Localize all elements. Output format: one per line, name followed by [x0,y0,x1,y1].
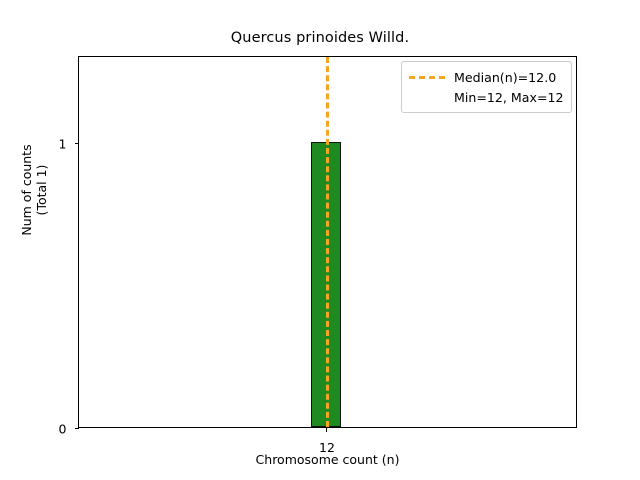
legend-dashed-line-icon [409,76,445,79]
page-title: Quercus prinoides Willd. [0,30,640,46]
y-axis-label: Num of counts (Total 1) [19,60,49,320]
ytick-label-0: 0 [59,422,67,437]
xtick-mark-12: 12 [326,427,327,432]
legend: Median(n)=12.0 Min=12, Max=12 [401,61,572,113]
plot-area: 0 1 12 Median(n)=12.0 Min=12, Max=12 [78,56,577,428]
ytick-mark-0: 0 [75,428,80,429]
legend-label-median: Median(n)=12.0 [454,70,556,85]
legend-entry-minmax: Min=12, Max=12 [409,87,564,107]
median-line [326,57,329,427]
figure-canvas: Quercus prinoides Willd. 0 1 12 Median(n… [0,0,640,480]
x-axis-label: Chromosome count (n) [78,452,577,467]
legend-blank-sample-icon [409,96,445,99]
legend-entry-median: Median(n)=12.0 [409,67,564,87]
ytick-label-1: 1 [59,137,67,152]
legend-label-minmax: Min=12, Max=12 [454,90,564,105]
